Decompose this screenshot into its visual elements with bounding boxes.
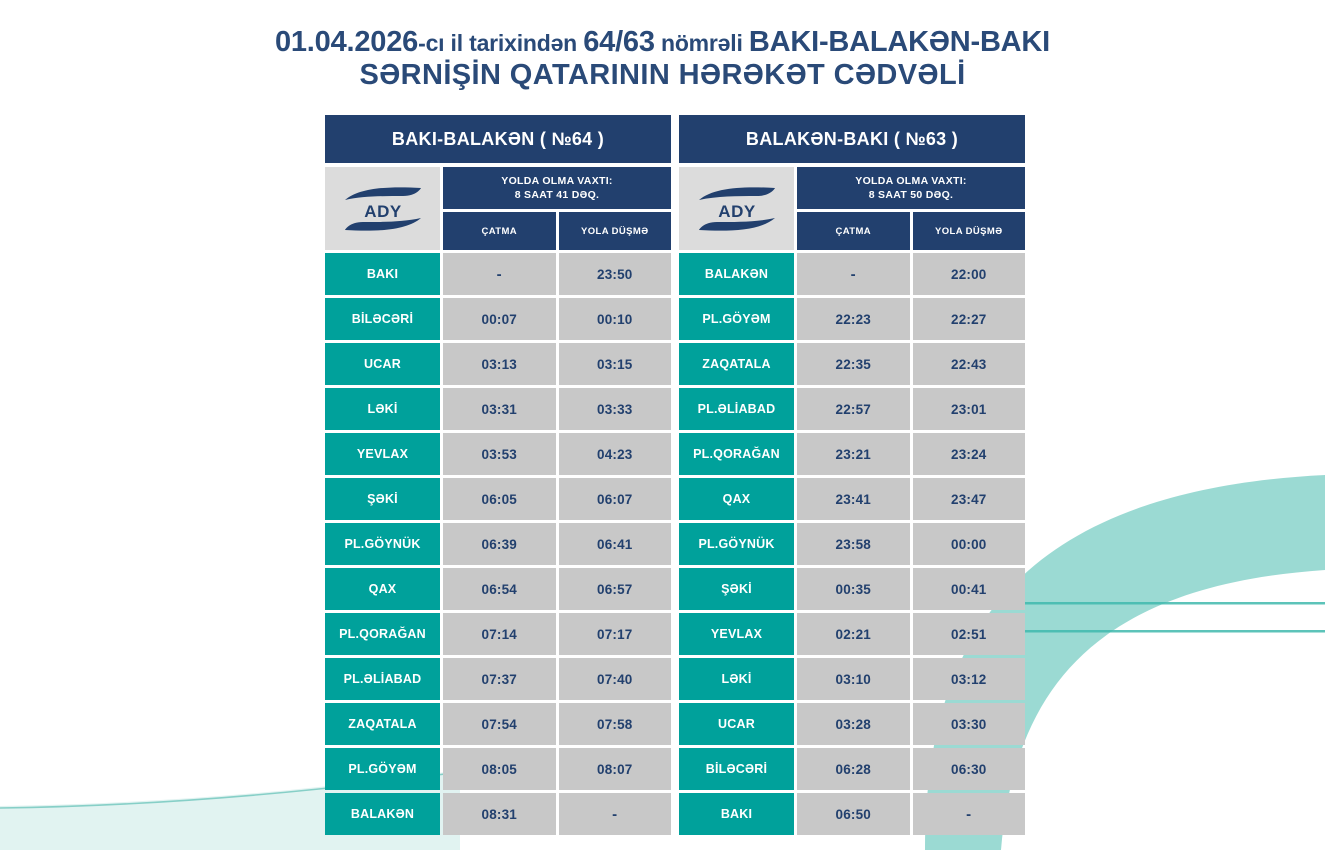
ady-logo-icon: ADY <box>337 184 429 234</box>
departure-time: - <box>913 793 1026 835</box>
route-header: BAKI-BALAKƏN ( №64 ) <box>325 115 671 163</box>
table-row: ŞƏKİ06:0506:07 <box>325 478 671 520</box>
table-head-band: ADY YOLDA OLMA VAXTI:8 SAAT 41 DƏQ.ÇATMA… <box>325 167 671 250</box>
departure-time: 07:40 <box>559 658 672 700</box>
station-name: YEVLAX <box>325 433 440 475</box>
arrival-time: 22:35 <box>797 343 910 385</box>
head-right: YOLDA OLMA VAXTI:8 SAAT 41 DƏQ.ÇATMAYOLA… <box>443 167 671 250</box>
svg-text:ADY: ADY <box>364 202 402 221</box>
station-name: BAKI <box>325 253 440 295</box>
table-row: PL.QORAĞAN23:2123:24 <box>679 433 1025 475</box>
arrival-time: 02:21 <box>797 613 910 655</box>
station-name: PL.ƏLİABAD <box>325 658 440 700</box>
station-name: ZAQATALA <box>679 343 794 385</box>
table-row: BİLƏCƏRİ06:2806:30 <box>679 748 1025 790</box>
station-name: PL.GÖYƏM <box>679 298 794 340</box>
station-name: QAX <box>679 478 794 520</box>
logo-cell: ADY <box>325 167 440 250</box>
arrival-time: 06:39 <box>443 523 556 565</box>
departure-time: - <box>559 793 672 835</box>
table-row: BİLƏCƏRİ00:0700:10 <box>325 298 671 340</box>
duration-label: YOLDA OLMA VAXTI: <box>855 174 966 188</box>
arrival-time: 07:14 <box>443 613 556 655</box>
station-name: YEVLAX <box>679 613 794 655</box>
table-row: BALAKƏN-22:00 <box>679 253 1025 295</box>
arrival-time: - <box>443 253 556 295</box>
departure-time: 06:57 <box>559 568 672 610</box>
arrival-time: 03:13 <box>443 343 556 385</box>
schedule-table-2: BALAKƏN-BAKI ( №63 ) ADY YOLDA OLMA VAXT… <box>679 115 1025 835</box>
departure-time: 03:15 <box>559 343 672 385</box>
arrival-time: 00:35 <box>797 568 910 610</box>
table-row: PL.ƏLİABAD22:5723:01 <box>679 388 1025 430</box>
table-row: PL.ƏLİABAD07:3707:40 <box>325 658 671 700</box>
column-header-depart: YOLA DÜŞMƏ <box>913 212 1026 250</box>
duration-label: YOLDA OLMA VAXTI: <box>501 174 612 188</box>
departure-time: 00:00 <box>913 523 1026 565</box>
departure-time: 03:33 <box>559 388 672 430</box>
departure-time: 23:50 <box>559 253 672 295</box>
station-name: PL.GÖYƏM <box>325 748 440 790</box>
departure-time: 07:58 <box>559 703 672 745</box>
station-name: BİLƏCƏRİ <box>325 298 440 340</box>
departure-time: 07:17 <box>559 613 672 655</box>
table-row: QAX23:4123:47 <box>679 478 1025 520</box>
table-row: LƏKİ03:1003:12 <box>679 658 1025 700</box>
arrival-time: 23:58 <box>797 523 910 565</box>
arrival-time: 22:23 <box>797 298 910 340</box>
table-row: ŞƏKİ00:3500:41 <box>679 568 1025 610</box>
table-row: PL.QORAĞAN07:1407:17 <box>325 613 671 655</box>
schedule-poster: 01.04.2026-cı il tarixindən 64/63 nömrəl… <box>0 0 1325 850</box>
departure-time: 22:00 <box>913 253 1026 295</box>
station-name: PL.GÖYNÜK <box>679 523 794 565</box>
travel-duration: YOLDA OLMA VAXTI:8 SAAT 50 DƏQ. <box>797 167 1025 209</box>
station-name: QAX <box>325 568 440 610</box>
duration-value: 8 SAAT 41 DƏQ. <box>515 188 600 202</box>
arrival-time: 03:31 <box>443 388 556 430</box>
column-header-arrive: ÇATMA <box>443 212 556 250</box>
table-row: PL.GÖYNÜK23:5800:00 <box>679 523 1025 565</box>
arrival-time: 22:57 <box>797 388 910 430</box>
column-headers: ÇATMAYOLA DÜŞMƏ <box>443 212 671 250</box>
station-name: BAKI <box>679 793 794 835</box>
table-row: YEVLAX03:5304:23 <box>325 433 671 475</box>
column-header-depart: YOLA DÜŞMƏ <box>559 212 672 250</box>
table-row: ZAQATALA07:5407:58 <box>325 703 671 745</box>
svg-text:ADY: ADY <box>718 202 756 221</box>
departure-time: 03:30 <box>913 703 1026 745</box>
departure-time: 06:07 <box>559 478 672 520</box>
table-row: LƏKİ03:3103:33 <box>325 388 671 430</box>
schedule-tables: BAKI-BALAKƏN ( №64 ) ADY YOLDA OLMA VAXT… <box>325 115 1025 835</box>
ady-logo-icon: ADY <box>691 184 783 234</box>
table-row: UCAR03:2803:30 <box>679 703 1025 745</box>
departure-time: 00:10 <box>559 298 672 340</box>
title-train-numbers: 64/63 <box>583 26 655 58</box>
title-subtitle: SƏRNİŞİN QATARININ HƏRƏKƏT CƏDVƏLİ <box>0 59 1325 92</box>
departure-time: 00:41 <box>913 568 1026 610</box>
table-row: PL.GÖYNÜK06:3906:41 <box>325 523 671 565</box>
table-row: BAKI06:50- <box>679 793 1025 835</box>
station-name: ŞƏKİ <box>325 478 440 520</box>
arrival-time: 06:50 <box>797 793 910 835</box>
arrival-time: 03:53 <box>443 433 556 475</box>
title-date: 01.04.2026 <box>275 26 418 58</box>
table-row: YEVLAX02:2102:51 <box>679 613 1025 655</box>
arrival-time: - <box>797 253 910 295</box>
head-right: YOLDA OLMA VAXTI:8 SAAT 50 DƏQ.ÇATMAYOLA… <box>797 167 1025 250</box>
table-row: UCAR03:1303:15 <box>325 343 671 385</box>
departure-time: 06:41 <box>559 523 672 565</box>
table-head-band: ADY YOLDA OLMA VAXTI:8 SAAT 50 DƏQ.ÇATMA… <box>679 167 1025 250</box>
arrival-time: 23:41 <box>797 478 910 520</box>
arrival-time: 03:28 <box>797 703 910 745</box>
station-name: PL.GÖYNÜK <box>325 523 440 565</box>
column-headers: ÇATMAYOLA DÜŞMƏ <box>797 212 1025 250</box>
page-title: 01.04.2026-cı il tarixindən 64/63 nömrəl… <box>0 26 1325 92</box>
station-name: PL.ƏLİABAD <box>679 388 794 430</box>
station-name: LƏKİ <box>679 658 794 700</box>
station-name: UCAR <box>679 703 794 745</box>
station-name: LƏKİ <box>325 388 440 430</box>
title-date-suffix: -cı il tarixindən <box>418 30 583 56</box>
departure-time: 08:07 <box>559 748 672 790</box>
departure-time: 22:27 <box>913 298 1026 340</box>
arrival-time: 06:28 <box>797 748 910 790</box>
travel-duration: YOLDA OLMA VAXTI:8 SAAT 41 DƏQ. <box>443 167 671 209</box>
arrival-time: 23:21 <box>797 433 910 475</box>
arrival-time: 08:05 <box>443 748 556 790</box>
schedule-rows: BALAKƏN-22:00PL.GÖYƏM22:2322:27ZAQATALA2… <box>679 253 1025 835</box>
table-row: PL.GÖYƏM08:0508:07 <box>325 748 671 790</box>
arrival-time: 07:54 <box>443 703 556 745</box>
departure-time: 04:23 <box>559 433 672 475</box>
table-row: ZAQATALA22:3522:43 <box>679 343 1025 385</box>
departure-time: 03:12 <box>913 658 1026 700</box>
logo-cell: ADY <box>679 167 794 250</box>
arrival-time: 03:10 <box>797 658 910 700</box>
table-row: PL.GÖYƏM22:2322:27 <box>679 298 1025 340</box>
departure-time: 02:51 <box>913 613 1026 655</box>
station-name: PL.QORAĞAN <box>325 613 440 655</box>
departure-time: 23:47 <box>913 478 1026 520</box>
arrival-time: 06:05 <box>443 478 556 520</box>
station-name: BALAKƏN <box>679 253 794 295</box>
departure-time: 23:24 <box>913 433 1026 475</box>
schedule-table-1: BAKI-BALAKƏN ( №64 ) ADY YOLDA OLMA VAXT… <box>325 115 671 835</box>
station-name: BALAKƏN <box>325 793 440 835</box>
station-name: ZAQATALA <box>325 703 440 745</box>
table-row: BAKI-23:50 <box>325 253 671 295</box>
title-route: BAKI-BALAKƏN-BAKI <box>749 26 1050 58</box>
departure-time: 22:43 <box>913 343 1026 385</box>
schedule-rows: BAKI-23:50BİLƏCƏRİ00:0700:10UCAR03:1303:… <box>325 253 671 835</box>
arrival-time: 08:31 <box>443 793 556 835</box>
station-name: UCAR <box>325 343 440 385</box>
departure-time: 23:01 <box>913 388 1026 430</box>
arrival-time: 07:37 <box>443 658 556 700</box>
table-row: BALAKƏN08:31- <box>325 793 671 835</box>
station-name: BİLƏCƏRİ <box>679 748 794 790</box>
station-name: ŞƏKİ <box>679 568 794 610</box>
duration-value: 8 SAAT 50 DƏQ. <box>869 188 954 202</box>
arrival-time: 06:54 <box>443 568 556 610</box>
route-header: BALAKƏN-BAKI ( №63 ) <box>679 115 1025 163</box>
station-name: PL.QORAĞAN <box>679 433 794 475</box>
departure-time: 06:30 <box>913 748 1026 790</box>
arrival-time: 00:07 <box>443 298 556 340</box>
title-nomreli: nömrəli <box>655 30 749 56</box>
table-row: QAX06:5406:57 <box>325 568 671 610</box>
column-header-arrive: ÇATMA <box>797 212 910 250</box>
